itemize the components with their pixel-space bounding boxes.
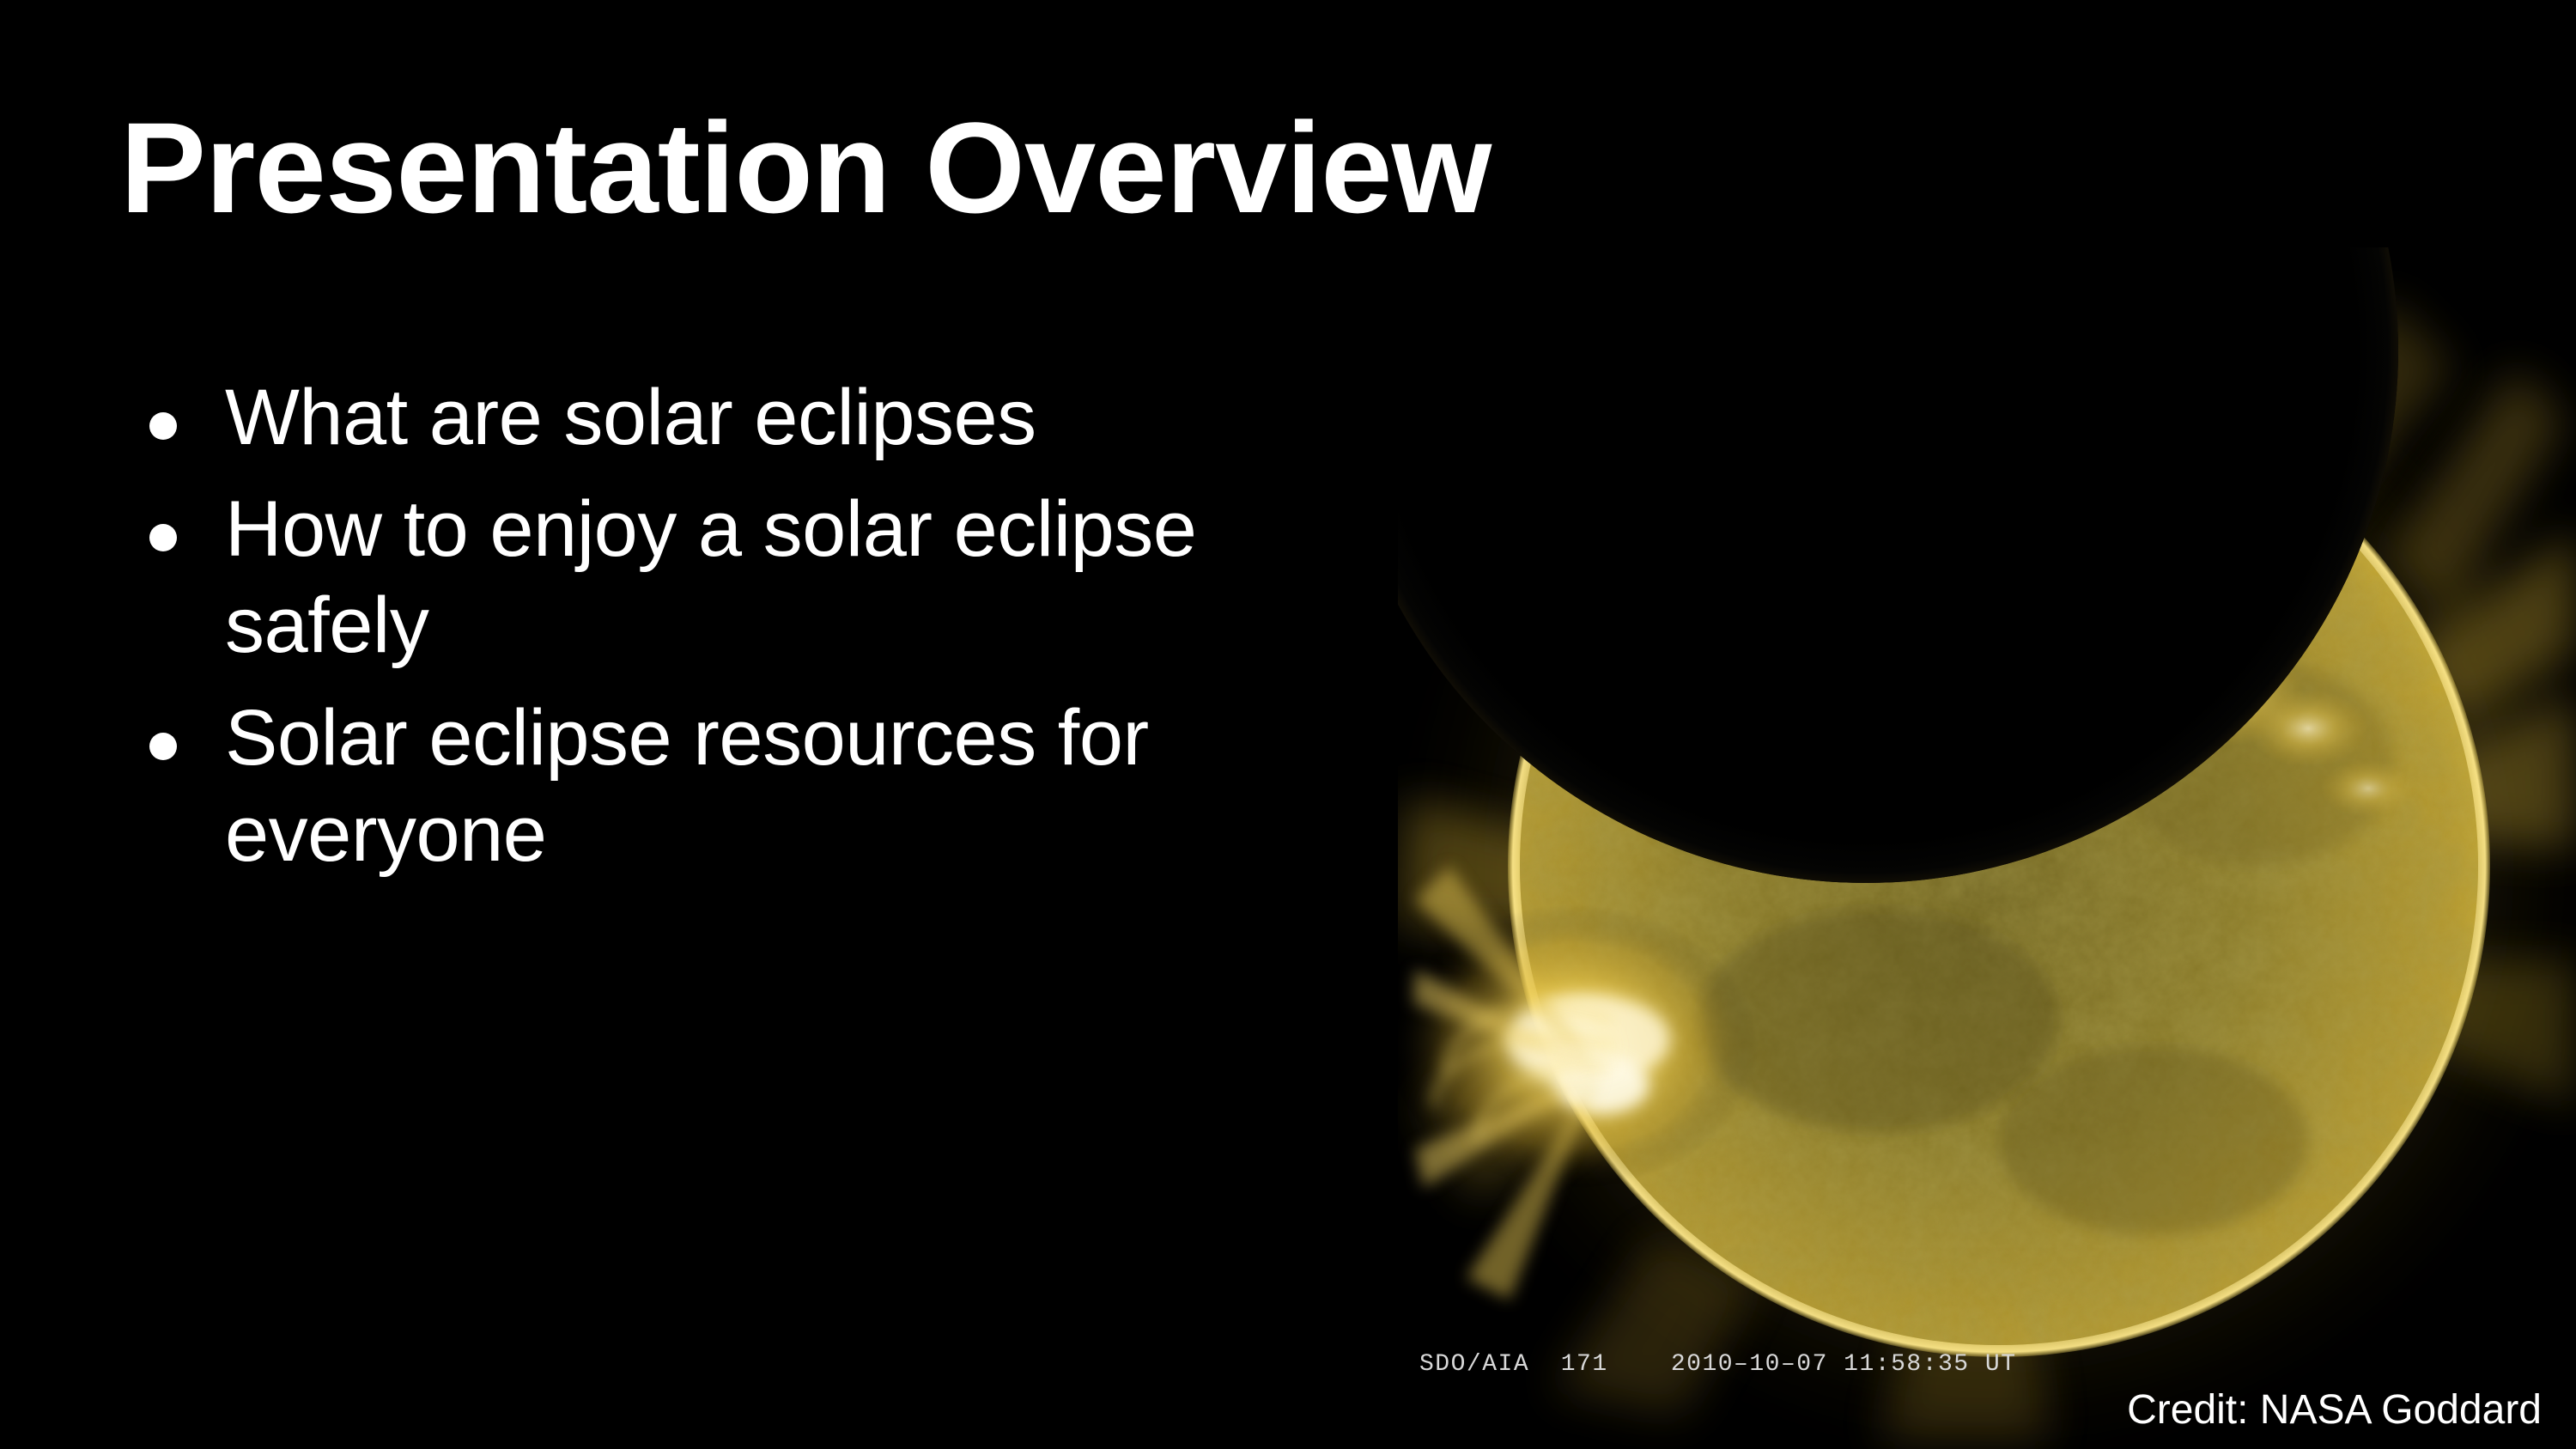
eclipse-illustration [1398,247,2576,1449]
image-credit: Credit: NASA Goddard [2127,1386,2542,1434]
list-item: Solar eclipse resources for everyone [129,690,1382,882]
list-item: What are solar eclipses [129,369,1382,466]
presentation-slide: Presentation Overview What are solar ecl… [0,0,2576,1449]
page-title: Presentation Overview [120,103,1752,232]
sdo-aia-timestamp: SDO/AIA 171 2010–10–07 11:58:35 UT [1419,1351,2017,1378]
list-item: How to enjoy a solar eclipse safely [129,481,1382,673]
solar-eclipse-image [1398,247,2576,1449]
overview-bullet-list: What are solar eclipses How to enjoy a s… [129,369,1382,898]
